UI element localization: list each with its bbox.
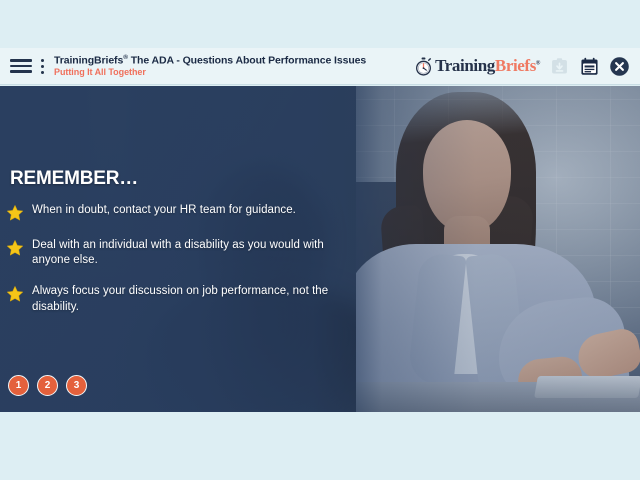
app-root: TrainingBriefs® The ADA - Questions Abou… [0, 0, 640, 480]
pagination-button-1[interactable]: 1 [8, 375, 29, 396]
slide-pagination: 1 2 3 [8, 375, 87, 396]
course-subtitle: Putting It All Together [54, 67, 414, 78]
pagination-button-2[interactable]: 2 [37, 375, 58, 396]
kebab-dot [41, 59, 44, 62]
notes-icon[interactable] [579, 56, 600, 77]
slide-bullet-list: When in doubt, contact your HR team for … [6, 203, 348, 315]
kebab-dot [41, 71, 44, 74]
hamburger-line [10, 59, 32, 62]
brand-registered-mark: ® [536, 60, 540, 66]
list-item: When in doubt, contact your HR team for … [6, 203, 348, 222]
bullet-text: Always focus your discussion on job perf… [32, 284, 348, 314]
woman-at-desk-photo [340, 86, 640, 412]
course-title-rest: The ADA - Questions About Performance Is… [128, 55, 366, 67]
star-icon [6, 204, 24, 222]
photo-blue-tint [340, 86, 640, 412]
course-title-brand: TrainingBriefs [54, 55, 123, 67]
slide-stage: REMEMBER… When in doubt, contact your HR… [0, 86, 640, 412]
brand-wordmark: TrainingBriefs® [435, 56, 540, 76]
list-item: Always focus your discussion on job perf… [6, 284, 348, 314]
header-actions: TrainingBriefs® [414, 56, 630, 77]
bullet-text: When in doubt, contact your HR team for … [32, 203, 296, 218]
slide-heading: REMEMBER… [10, 168, 138, 190]
trainingbriefs-logo[interactable]: TrainingBriefs® [414, 56, 540, 76]
app-header: TrainingBriefs® The ADA - Questions Abou… [0, 48, 640, 85]
list-item: Deal with an individual with a disabilit… [6, 238, 348, 268]
download-icon [549, 56, 570, 77]
hamburger-line [10, 70, 32, 73]
kebab-dot [41, 65, 44, 68]
bullet-text: Deal with an individual with a disabilit… [32, 238, 348, 268]
close-icon[interactable] [609, 56, 630, 77]
pagination-button-3[interactable]: 3 [66, 375, 87, 396]
star-icon [6, 239, 24, 257]
course-title: TrainingBriefs® The ADA - Questions Abou… [54, 54, 414, 67]
brand-word-briefs: Briefs [495, 56, 536, 75]
stopwatch-icon [414, 57, 433, 76]
star-icon [6, 285, 24, 303]
hamburger-line [10, 65, 32, 68]
slide-content: REMEMBER… When in doubt, contact your HR… [0, 86, 356, 412]
brand-word-training: Training [435, 56, 495, 75]
header-titles: TrainingBriefs® The ADA - Questions Abou… [54, 54, 414, 77]
more-options-icon[interactable] [34, 48, 50, 85]
hamburger-menu-icon[interactable] [8, 48, 34, 85]
